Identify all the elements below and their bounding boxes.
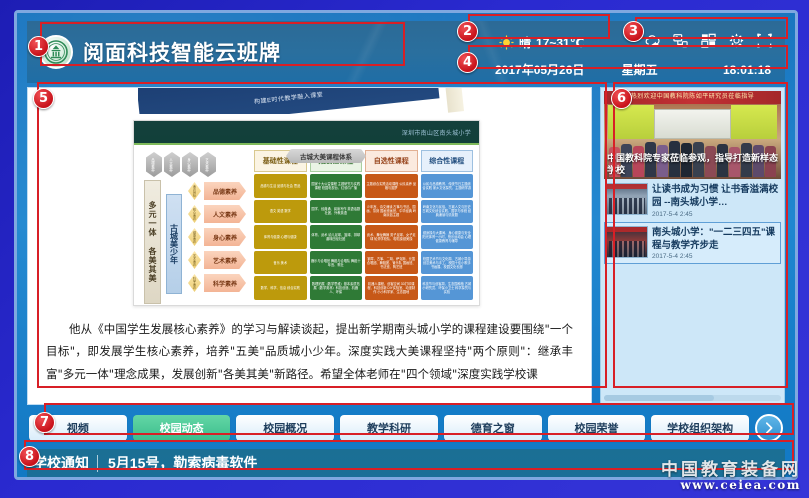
datetime-bar: 2017年05月26日 星期五 18:01:18 xyxy=(495,61,775,78)
curriculum-diagram: 深圳市南山区南头城小学 古城大美课程体系 品德素养 人文素养 身心素养 艺术素养 xyxy=(133,120,480,306)
slide-viewer[interactable]: 构建E时代教学融入课堂 深圳市南山区南头城小学 古城大美课程体系 品德素养 xyxy=(28,88,591,312)
news-item-date: 2017-5-4 2:45 xyxy=(652,211,779,218)
diagram-column: 自选性课程 主题综合实践活动课程 公民素养 品格与圆梦 少年宫、诗文诵读 古筝与… xyxy=(365,150,418,300)
news-thumbnail xyxy=(606,226,648,258)
diagram-hex-row: 品德素养 人文素养 身心素养 艺术素养 xyxy=(146,152,216,177)
news-list-item-selected[interactable]: 南头城小学："一二三四五"课程与教学齐步走 2017-5-4 2:45 xyxy=(604,222,781,265)
diagram-diamond-column: 素养目标 核心素养 健康素养 艺术素养 科学素养 xyxy=(188,182,201,292)
diagram-arrow-column: 品德素养 人文素养 身心素养 艺术素养 科学素养 xyxy=(204,182,246,292)
tab-campus-overview[interactable]: 校园概况 xyxy=(236,415,334,441)
brand-area: 阅面科技智能云班牌 xyxy=(39,29,281,75)
news-scrollbar[interactable] xyxy=(604,395,781,401)
current-time: 18:01:18 xyxy=(723,63,775,77)
news-item-title: 南头城小学："一二三四五"课程与教学齐步走 xyxy=(652,226,779,253)
diagram-school-name: 深圳市南山区南头城小学 xyxy=(402,128,471,137)
fullscreen-icon[interactable] xyxy=(756,32,773,49)
header-toolbar xyxy=(644,32,773,49)
diagram-cell: 岭南文化与民俗、古城人文与历史 古城文化综合实践、国学与传统 经典诵读与情景剧 xyxy=(421,200,474,224)
class-board-device-frame: 阅面科技智能云班牌 xyxy=(14,10,798,480)
weather-condition: 晴 xyxy=(519,34,531,51)
content-panel: 构建E时代教学融入课堂 深圳市南山区南头城小学 古城大美课程体系 品德素养 xyxy=(27,87,592,405)
notice-bar[interactable]: 学校通知 5月15号，勒索病毒软件 xyxy=(27,449,785,477)
news-scrollbar-thumb[interactable] xyxy=(604,395,714,401)
diagram-cell: 钢琴、古筝、二胡、萨克斯、长笛 合唱团、舞蹈团、管乐队 国画班、书法班、陶艺班 xyxy=(365,251,418,275)
diagram-vertical-label-secondary: 古城美少年 xyxy=(166,194,182,294)
diagram-left-column: 品德素养 人文素养 身心素养 艺术素养 多元一体 各美其美 古城美少年 素养目标… xyxy=(140,150,248,300)
diagram-diamond: 艺术素养 xyxy=(188,251,201,269)
diagram-cell: 武术、舞龙舞狮 男子足球、女子足球 轮滑学校队、啦啦操健美操 xyxy=(365,225,418,249)
diagram-header: 深圳市南山区南头城小学 xyxy=(134,121,479,145)
current-weekday: 星期五 xyxy=(622,61,723,78)
diagram-arrow: 品德素养 xyxy=(204,182,246,200)
sun-icon xyxy=(499,35,514,50)
annotation-badge-5: 5 xyxy=(33,88,54,109)
annotation-badge-4: 4 xyxy=(457,52,478,73)
weather-widget[interactable]: 晴 17~31℃ xyxy=(499,34,584,51)
tab-campus-honors[interactable]: 校园荣誉 xyxy=(548,415,646,441)
diagram-body: 古城大美课程体系 品德素养 人文素养 身心素养 艺术素养 多元一体 各美其美 古… xyxy=(134,145,479,305)
slide-banner-edge xyxy=(444,88,464,113)
diagram-cell: 数学、科学、信息 综合实践 xyxy=(254,276,307,300)
diagram-title-pill: 古城大美课程体系 xyxy=(286,149,366,163)
annotation-badge-3: 3 xyxy=(623,21,644,42)
diagram-diamond: 健康素养 xyxy=(188,228,201,246)
diagram-vertical-label-primary: 多元一体 各美其美 xyxy=(144,180,161,304)
news-hero-item[interactable]: 热烈欢迎中国教科院陈如平研究员莅临指导 中国教科院专家莅临参观，指导打造新样态学… xyxy=(604,91,781,179)
chevron-right-icon[interactable] xyxy=(755,414,783,442)
diagram-cell: 机器人课程、创客空间 3D打印课程、科技创新 DIY实验室、动漫制作 小小科学家… xyxy=(365,276,418,300)
diagram-cell: 体育与健康 心理与健康 xyxy=(254,225,307,249)
diagram-column: 综合性课程 公民与品德教育、传统节日主题综合实践 家乡文化探究、主题研学游 岭南… xyxy=(421,150,474,300)
news-thumbnail xyxy=(606,183,648,215)
category-tab-bar: 视频 校园动态 校园概况 教学科研 德育之窗 校园荣誉 学校组织架构 xyxy=(27,411,785,445)
diagram-cell: 主题综合实践活动课程 公民素养 品格与圆梦 xyxy=(365,174,418,198)
diagram-cell: 科技节与创客周、生态园种植 古城小研究员、环保小卫士 科学探究与实验 xyxy=(421,276,474,300)
diagram-column-head: 自选性课程 xyxy=(365,150,418,172)
diagram-column-head: 综合性课程 xyxy=(421,150,474,172)
news-item-text: 让读书成为习惯 让书香溢满校园 --南头城小学… 2017-5-4 2:45 xyxy=(652,183,779,218)
tab-school-structure[interactable]: 学校组织架构 xyxy=(651,415,749,441)
diagram-cell: 少年宫、诗文诵读 古筝与书法、国画、篆刻 国画班画班、中华经典 岭南民俗主题 xyxy=(365,200,418,224)
diagram-cell: 语文 英语 数学 xyxy=(254,200,307,224)
device-screen: 阅面科技智能云班牌 xyxy=(17,13,795,477)
weather-temperature: 17~31℃ xyxy=(536,36,584,50)
watermark-url: www.ceiea.com xyxy=(661,478,801,492)
news-item-date: 2017-5-4 2:45 xyxy=(652,253,779,260)
diagram-hex: 品德素养 xyxy=(146,152,162,177)
diagram-arrow: 艺术素养 xyxy=(204,251,246,269)
diagram-cell: 国学、经典诵、阅读写作 英语话剧社团、外教英语 xyxy=(310,200,363,224)
tab-teaching-research[interactable]: 教学科研 xyxy=(340,415,438,441)
diagram-diamond: 科学素养 xyxy=(188,274,201,292)
slide-top-banner: 构建E时代教学融入课堂 xyxy=(138,88,468,114)
annotation-badge-6: 6 xyxy=(611,88,632,109)
news-item-text: 南头城小学："一二三四五"课程与教学齐步走 2017-5-4 2:45 xyxy=(652,226,779,261)
diagram-cell: 国家十大公益课程 主题研究与实践课程 校园电视台、红领巾广播 xyxy=(310,174,363,198)
diagram-arrow: 人文素养 xyxy=(204,205,246,223)
diagram-diamond: 核心素养 xyxy=(188,205,201,223)
diagram-hex: 人文素养 xyxy=(164,152,180,177)
diagram-arrow: 身心素养 xyxy=(204,228,246,246)
diagram-cell: 健身操与大课间、身心健康与安全 阳光体育一小时、快乐运动会 心理健康教育与辅导 xyxy=(421,225,474,249)
diagram-cell: 数理拓展（数学思维）基本素质拓展（数学奥林）科技创造、机器人、环保 xyxy=(310,276,363,300)
diagram-column: 基础性课程 品德与生活 品德与社会 思品 语文 英语 数学 体育与健康 心理与健… xyxy=(254,150,307,300)
current-date: 2017年05月26日 xyxy=(495,61,622,78)
news-list-item[interactable]: 让读书成为习惯 让书香溢满校园 --南头城小学… 2017-5-4 2:45 xyxy=(604,179,781,222)
news-item-title: 让读书成为习惯 让书香溢满校园 --南头城小学… xyxy=(652,183,779,210)
tab-moral-education[interactable]: 德育之窗 xyxy=(444,415,542,441)
diagram-hex: 身心素养 xyxy=(182,152,198,177)
news-hero-caption: 中国教科院专家莅临参观，指导打造新样态学校 xyxy=(604,150,781,179)
article-text: 他从《中国学生发展核心素养》的学习与解读谈起，提出新学期南头城小学的课程建设要围… xyxy=(28,312,591,404)
annotation-badge-8: 8 xyxy=(19,446,40,467)
annotation-badge-1: 1 xyxy=(28,36,49,57)
notice-message: 5月15号，勒索病毒软件 xyxy=(98,453,257,473)
diagram-footer-bar xyxy=(134,305,479,306)
diagram-cell: 公民与品德教育、传统节日主题综合实践 家乡文化探究、主题研学游 xyxy=(421,174,474,198)
diagram-hex: 艺术素养 xyxy=(200,152,216,177)
diagram-cell: 体育、武术 幼儿足球、篮球、排球 趣味田径社团 xyxy=(310,225,363,249)
main-body: 构建E时代教学融入课堂 深圳市南山区南头城小学 古城大美课程体系 品德素养 xyxy=(27,87,785,405)
tab-campus-news[interactable]: 校园动态 xyxy=(133,415,231,441)
apps-grid-icon[interactable] xyxy=(700,32,717,49)
diagram-cell: 品德与生活 品德与社会 思品 xyxy=(254,174,307,198)
diagram-cell: 校园艺术节与文化周、古城小导游 创意美术与手工、校园十佳小歌手 书画展、校园文化… xyxy=(421,251,474,275)
screen-cast-icon[interactable] xyxy=(672,32,689,49)
news-panel: 热烈欢迎中国教科院陈如平研究员莅临指导 中国教科院专家莅临参观，指导打造新样态学… xyxy=(600,87,785,405)
diagram-course-columns: 基础性课程 品德与生活 品德与社会 思品 语文 英语 数学 体育与健康 心理与健… xyxy=(251,150,473,300)
diagram-diamond: 素养目标 xyxy=(188,182,201,200)
diagram-cell: 音乐 美术 xyxy=(254,251,307,275)
app-header: 阅面科技智能云班牌 xyxy=(27,21,785,83)
app-title: 阅面科技智能云班牌 xyxy=(83,37,281,67)
annotation-badge-7: 7 xyxy=(34,412,55,433)
diagram-column: 拓展性课程 国家十大公益课程 主题研究与实践课程 校园电视台、红领巾广播 国学、… xyxy=(310,150,363,300)
diagram-cell: 器乐与合唱班 舞蹈与合唱队 舞蹈十年宫、歌社 xyxy=(310,251,363,275)
diagram-arrow: 科学素养 xyxy=(204,274,246,292)
slide-banner-text: 构建E时代教学融入课堂 xyxy=(138,88,439,114)
annotation-badge-2: 2 xyxy=(457,21,478,42)
cloud-upload-icon[interactable] xyxy=(644,32,661,49)
gear-icon[interactable] xyxy=(728,32,745,49)
